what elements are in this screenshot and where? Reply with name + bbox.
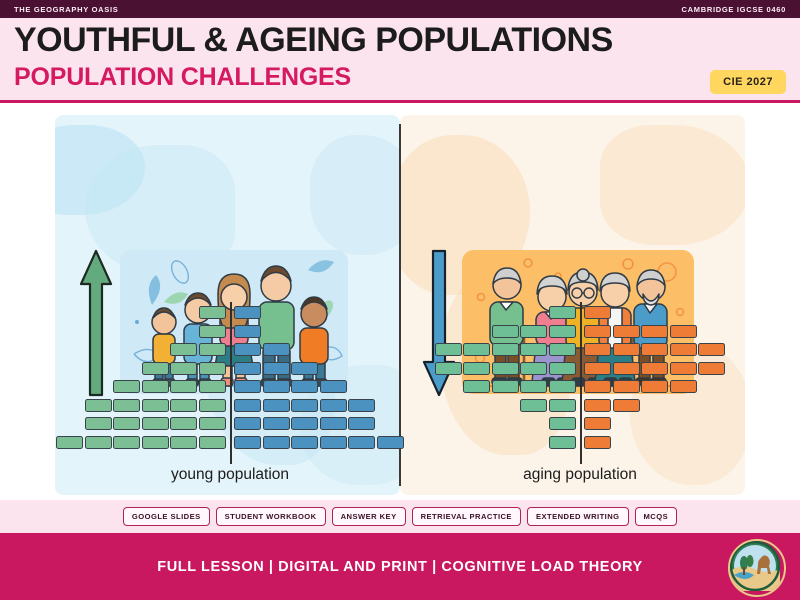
pyramid-block <box>549 417 576 430</box>
resource-badge[interactable]: ANSWER KEY <box>332 507 406 526</box>
pyramid-block <box>263 436 290 449</box>
pyramid-block <box>463 362 490 375</box>
pyramid-block <box>549 399 576 412</box>
pyramid-block <box>142 436 169 449</box>
pyramid-block <box>263 362 290 375</box>
pyramid-block <box>263 399 290 412</box>
pyramid-block <box>492 343 519 356</box>
exam-year-badge: CIE 2027 <box>710 70 786 94</box>
pyramid-block <box>520 380 547 393</box>
pyramid-block <box>234 380 261 393</box>
pyramid-block <box>613 325 640 338</box>
pyramid-block <box>463 343 490 356</box>
pyramid-block <box>291 380 318 393</box>
pyramid-block <box>142 417 169 430</box>
geography-oasis-logo <box>728 539 786 597</box>
pyramid-block <box>463 380 490 393</box>
pyramid-row-male <box>85 399 228 412</box>
pyramid-block <box>170 380 197 393</box>
pyramid-center-axis <box>580 302 582 464</box>
pyramid-block <box>520 343 547 356</box>
pyramid-center-axis <box>230 302 232 464</box>
pyramid-block <box>199 436 226 449</box>
panel-divider <box>399 124 401 486</box>
pyramid-block <box>85 399 112 412</box>
pyramid-row-female <box>584 417 613 430</box>
pyramid-block <box>492 325 519 338</box>
pyramid-block <box>698 362 725 375</box>
pyramid-block <box>435 343 462 356</box>
header: YOUTHFUL & AGEING POPULATIONS POPULATION… <box>0 18 800 103</box>
pyramid-block <box>234 306 261 319</box>
pyramid-block <box>113 436 140 449</box>
map-blob <box>600 125 745 245</box>
pyramid-row-female <box>584 343 727 356</box>
pyramid-block <box>377 436 404 449</box>
pyramid-block <box>348 399 375 412</box>
pyramid-block <box>520 362 547 375</box>
pyramid-row-male <box>549 306 578 319</box>
pyramid-row-male <box>549 436 578 449</box>
pyramid-block <box>234 436 261 449</box>
brand-label: THE GEOGRAPHY OASIS <box>14 5 118 14</box>
pyramid-row-male <box>435 362 578 375</box>
pyramid-block <box>520 399 547 412</box>
pyramid-block <box>263 417 290 430</box>
pyramid-block <box>348 436 375 449</box>
pyramid-block <box>170 399 197 412</box>
map-blob <box>310 135 400 255</box>
young-population-caption: young population <box>75 466 385 484</box>
pyramid-block <box>492 380 519 393</box>
pyramid-block <box>320 436 347 449</box>
pyramid-block <box>113 399 140 412</box>
pyramid-block <box>584 343 611 356</box>
pyramid-block <box>199 325 226 338</box>
pyramid-block <box>549 325 576 338</box>
pyramid-block <box>549 343 576 356</box>
pyramid-block <box>170 417 197 430</box>
pyramid-block <box>234 417 261 430</box>
pyramid-block <box>641 380 668 393</box>
pyramid-block <box>170 362 197 375</box>
pyramid-block <box>613 380 640 393</box>
pyramid-block <box>199 362 226 375</box>
top-bar: THE GEOGRAPHY OASIS CAMBRIDGE IGCSE 0460 <box>0 0 800 18</box>
pyramid-row-male <box>492 325 578 338</box>
pyramid-block <box>670 362 697 375</box>
pyramid-block <box>584 399 611 412</box>
resource-badge[interactable]: GOOGLE SLIDES <box>123 507 210 526</box>
pyramid-block <box>199 380 226 393</box>
pyramid-block <box>641 343 668 356</box>
pyramid-row-male <box>56 436 227 449</box>
pyramid-row-female <box>234 362 320 375</box>
pyramid-block <box>291 417 318 430</box>
pyramid-block <box>641 325 668 338</box>
pyramid-block <box>263 380 290 393</box>
pyramid-block <box>584 436 611 449</box>
pyramid-block <box>142 362 169 375</box>
pyramid-row-female <box>584 325 698 338</box>
pyramid-row-female <box>584 362 727 375</box>
pyramid-row-female <box>234 343 291 356</box>
pyramid-block <box>85 417 112 430</box>
pyramid-row-female <box>584 380 698 393</box>
pyramid-block <box>170 343 197 356</box>
pyramid-row-male <box>463 380 577 393</box>
resource-badge[interactable]: EXTENDED WRITING <box>527 507 629 526</box>
page-subtitle: POPULATION CHALLENGES <box>14 65 351 90</box>
pyramid-row-female <box>234 399 377 412</box>
pyramid-block <box>320 399 347 412</box>
pyramid-block <box>320 380 347 393</box>
pyramid-block <box>670 380 697 393</box>
young-population-pyramid <box>75 306 385 466</box>
pyramid-block <box>199 306 226 319</box>
pyramid-block <box>549 380 576 393</box>
pyramid-block <box>113 417 140 430</box>
pyramid-row-male <box>435 343 578 356</box>
pyramid-block <box>320 417 347 430</box>
pyramid-block <box>584 306 611 319</box>
pyramid-row-female <box>234 436 405 449</box>
pyramid-block <box>613 343 640 356</box>
pyramid-row-female <box>234 325 263 338</box>
pyramid-row-female <box>584 436 613 449</box>
main-content: young population aging population <box>0 106 800 500</box>
pyramid-row-male <box>142 362 228 375</box>
aging-population-pyramid <box>425 306 735 466</box>
pyramid-row-male <box>170 343 227 356</box>
page-title: YOUTHFUL & AGEING POPULATIONS <box>14 23 613 57</box>
pyramid-block <box>199 399 226 412</box>
pyramid-block <box>584 325 611 338</box>
resource-badge[interactable]: MCQS <box>635 507 678 526</box>
spec-code-label: CAMBRIDGE IGCSE 0460 <box>682 5 786 14</box>
resource-badge-strip: GOOGLE SLIDESSTUDENT WORKBOOKANSWER KEYR… <box>0 500 800 533</box>
pyramid-block <box>641 362 668 375</box>
pyramid-block <box>142 380 169 393</box>
pyramid-row-female <box>234 306 263 319</box>
pyramid-block <box>85 436 112 449</box>
camel-emblem-icon <box>730 541 780 591</box>
pyramid-block <box>234 343 261 356</box>
pyramid-block <box>170 436 197 449</box>
slide-root: THE GEOGRAPHY OASIS CAMBRIDGE IGCSE 0460… <box>0 0 800 600</box>
footer-tagline: FULL LESSON | DIGITAL AND PRINT | COGNIT… <box>157 559 643 575</box>
resource-badge[interactable]: RETRIEVAL PRACTICE <box>412 507 521 526</box>
pyramid-row-male <box>113 380 227 393</box>
pyramid-block <box>234 325 261 338</box>
pyramid-block <box>291 436 318 449</box>
pyramid-block <box>698 343 725 356</box>
pyramid-block <box>549 306 576 319</box>
pyramid-block <box>520 325 547 338</box>
pyramid-block <box>435 362 462 375</box>
pyramid-block <box>670 325 697 338</box>
pyramid-row-male <box>85 417 228 430</box>
pyramid-row-female <box>584 306 613 319</box>
pyramid-block <box>670 343 697 356</box>
pyramid-block <box>549 362 576 375</box>
aging-population-caption: aging population <box>425 466 735 484</box>
pyramid-row-male <box>199 306 228 319</box>
pyramid-block <box>584 362 611 375</box>
footer: FULL LESSON | DIGITAL AND PRINT | COGNIT… <box>0 533 800 600</box>
pyramid-block <box>584 380 611 393</box>
pyramid-block <box>234 399 261 412</box>
pyramid-block <box>199 343 226 356</box>
pyramid-row-male <box>549 417 578 430</box>
pyramid-block <box>584 417 611 430</box>
pyramid-row-female <box>234 417 377 430</box>
pyramid-block <box>113 380 140 393</box>
pyramid-row-male <box>520 399 577 412</box>
pyramid-block <box>348 417 375 430</box>
pyramid-row-male <box>199 325 228 338</box>
pyramid-block <box>234 362 261 375</box>
pyramid-block <box>291 399 318 412</box>
pyramid-block <box>291 362 318 375</box>
pyramid-block <box>549 436 576 449</box>
pyramid-block <box>56 436 83 449</box>
pyramid-block <box>492 362 519 375</box>
pyramid-block <box>263 343 290 356</box>
pyramid-row-female <box>584 399 641 412</box>
pyramid-block <box>613 399 640 412</box>
pyramid-row-female <box>234 380 348 393</box>
pyramid-block <box>613 362 640 375</box>
resource-badge[interactable]: STUDENT WORKBOOK <box>216 507 326 526</box>
pyramid-block <box>142 399 169 412</box>
pyramid-block <box>199 417 226 430</box>
